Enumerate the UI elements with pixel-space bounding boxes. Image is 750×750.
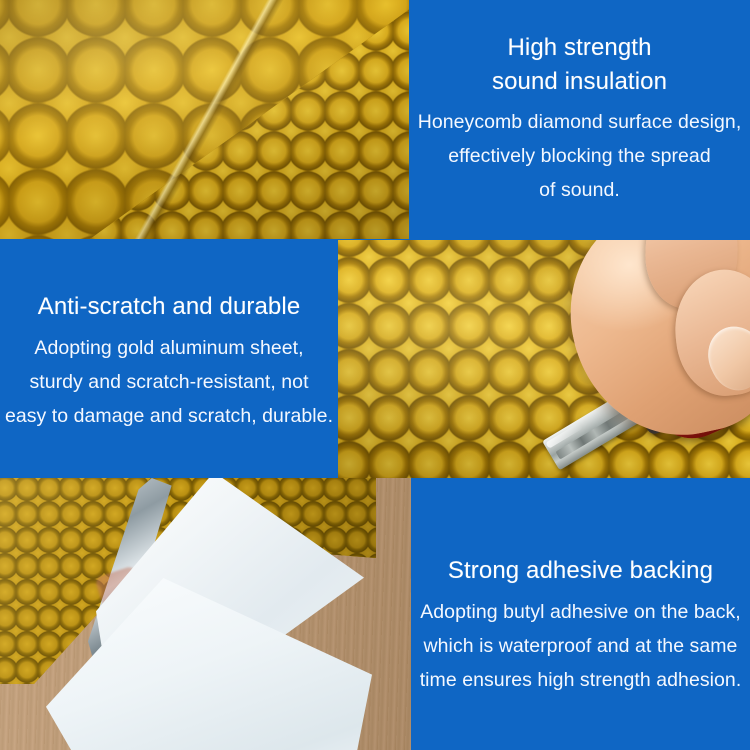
panel-2-body-line-1: Adopting gold aluminum sheet, — [0, 331, 338, 365]
panel-3-body-line-2: which is waterproof and at the same — [411, 629, 750, 663]
panel-3-heading-line-1: Strong adhesive backing — [411, 554, 750, 588]
panel-1-body-line-3: of sound. — [409, 173, 750, 207]
panel-high-strength-sound-insulation: High strength sound insulation Honeycomb… — [409, 0, 750, 239]
panel-2-body-line-3: easy to damage and scratch, durable. — [0, 399, 338, 433]
panel-1-body-line-2: effectively blocking the spread — [409, 139, 750, 173]
panel-1-body-line-1: Honeycomb diamond surface design, — [409, 105, 750, 139]
panel-anti-scratch-and-durable: Anti-scratch and durable Adopting gold a… — [0, 240, 338, 478]
panel-2-body-line-2: sturdy and scratch-resistant, not — [0, 365, 338, 399]
panel-1-heading-line-1: High strength — [409, 31, 750, 65]
panel-1-heading: High strength sound insulation — [409, 31, 750, 99]
panel-3-body-line-3: time ensures high strength adhesion. — [411, 663, 750, 697]
panel-strong-adhesive-backing: Strong adhesive backing Adopting butyl a… — [411, 479, 750, 750]
product-feature-infographic: High strength sound insulation Honeycomb… — [0, 0, 750, 750]
panel-2-body: Adopting gold aluminum sheet, sturdy and… — [0, 331, 338, 433]
panel-3-body-line-1: Adopting butyl adhesive on the back, — [411, 595, 750, 629]
panel-2-heading-line-1: Anti-scratch and durable — [0, 290, 338, 324]
photo-adhesive-peel — [0, 478, 411, 750]
panel-2-heading: Anti-scratch and durable — [0, 290, 338, 324]
photo-honeycomb-macro — [0, 0, 409, 239]
panel-3-heading: Strong adhesive backing — [411, 554, 750, 588]
panel-1-heading-line-2: sound insulation — [409, 65, 750, 99]
photo-key-scratch — [338, 240, 750, 478]
panel-1-body: Honeycomb diamond surface design, effect… — [409, 105, 750, 207]
panel-3-body: Adopting butyl adhesive on the back, whi… — [411, 595, 750, 697]
